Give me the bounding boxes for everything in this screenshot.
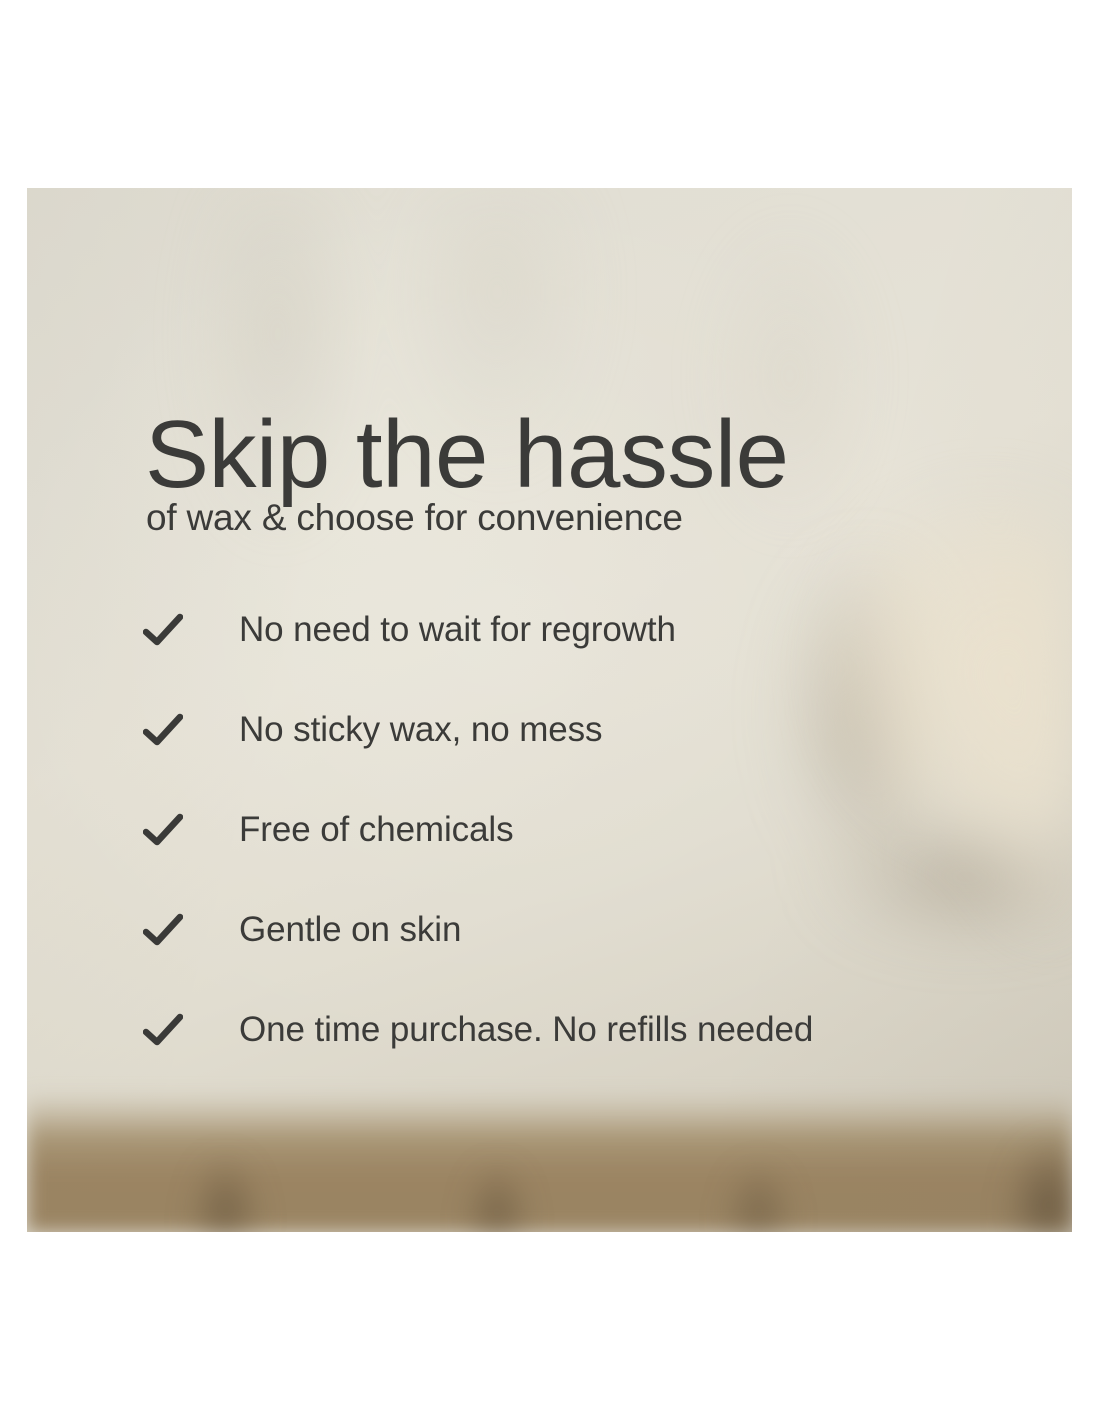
- benefit-label: One time purchase. No refills needed: [239, 1010, 813, 1050]
- benefit-item: One time purchase. No refills needed: [143, 980, 1023, 1080]
- benefit-label: No sticky wax, no mess: [239, 710, 602, 750]
- benefit-item: Gentle on skin: [143, 880, 1023, 980]
- benefit-item: No sticky wax, no mess: [143, 680, 1023, 780]
- benefit-label: Free of chemicals: [239, 810, 514, 850]
- benefit-list: No need to wait for regrowth No sticky w…: [143, 580, 1023, 1080]
- benefit-item: Free of chemicals: [143, 780, 1023, 880]
- benefit-label: No need to wait for regrowth: [239, 610, 676, 650]
- promo-content: Skip the hassle of wax & choose for conv…: [27, 188, 1072, 1232]
- check-icon: [143, 713, 239, 747]
- benefit-item: No need to wait for regrowth: [143, 580, 1023, 680]
- promotional-image-panel: Skip the hassle of wax & choose for conv…: [27, 188, 1072, 1232]
- check-icon: [143, 913, 239, 947]
- check-icon: [143, 813, 239, 847]
- subheadline: of wax & choose for convenience: [146, 499, 683, 536]
- benefit-label: Gentle on skin: [239, 910, 461, 950]
- check-icon: [143, 1013, 239, 1047]
- headline: Skip the hassle: [145, 407, 789, 503]
- check-icon: [143, 613, 239, 647]
